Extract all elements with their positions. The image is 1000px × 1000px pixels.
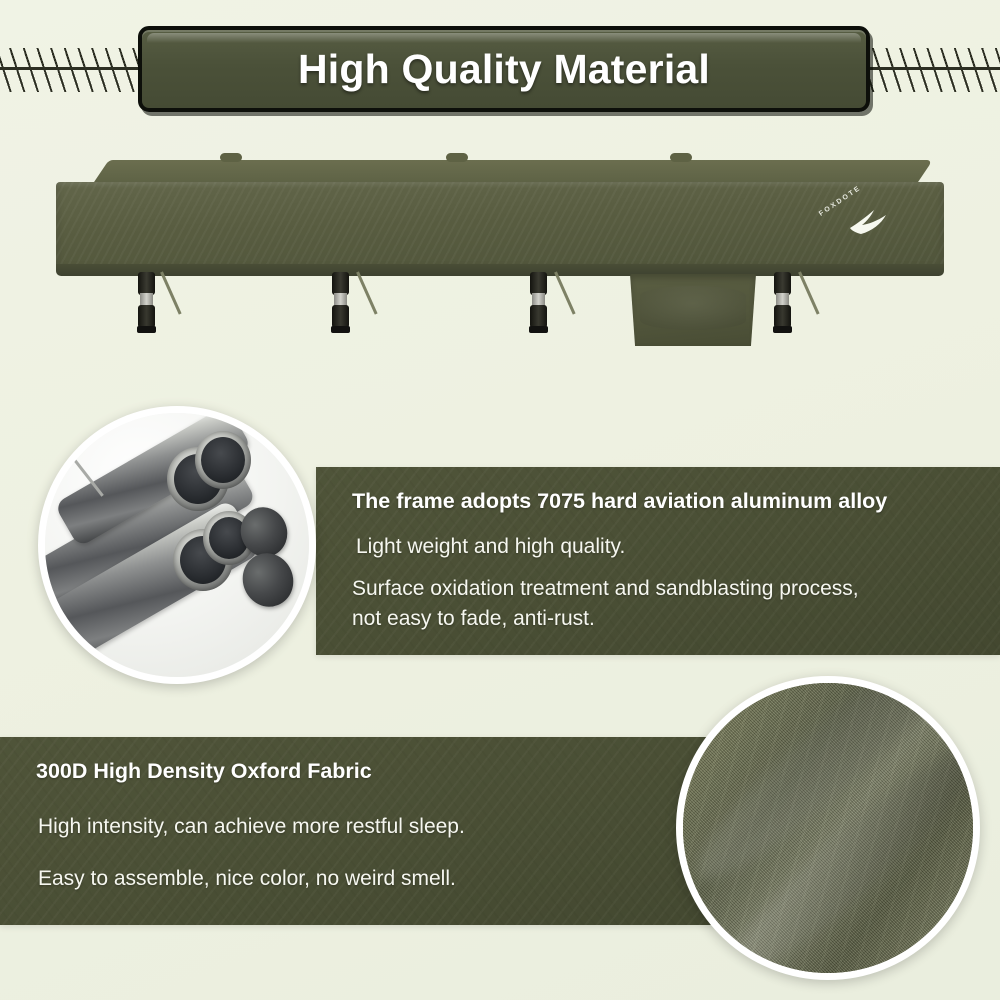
feature-frame-line-3: not easy to fade, anti-rust. xyxy=(352,607,595,631)
cot-leg xyxy=(332,272,349,332)
aluminum-tubes-photo xyxy=(38,406,316,684)
cot-leg-brace xyxy=(356,271,377,314)
product-photo-cot: FOXDOTE xyxy=(0,140,1000,390)
cot-leg-foot xyxy=(137,326,156,333)
feature-panel-fabric: 300D High Density Oxford Fabric High int… xyxy=(0,737,742,925)
cot-leg-brace xyxy=(798,271,819,314)
bird-swoosh-icon xyxy=(848,204,890,238)
tube-bore xyxy=(201,437,245,483)
feature-frame-headline: The frame adopts 7075 hard aviation alum… xyxy=(352,489,887,513)
cot-leg-brace xyxy=(554,271,575,314)
cot-rail-bump xyxy=(670,153,692,162)
cot-fabric-deck xyxy=(56,182,944,274)
cot-leg-upper xyxy=(332,272,349,295)
cot-leg-brace xyxy=(160,271,181,314)
cot-leg-lower xyxy=(332,305,349,328)
page-title: High Quality Material xyxy=(298,46,710,93)
banner-sheen xyxy=(147,33,861,43)
feature-frame-line-2: Surface oxidation treatment and sandblas… xyxy=(352,577,859,601)
feature-frame-line-1: Light weight and high quality. xyxy=(356,535,625,559)
feature-fabric-line-2: Easy to assemble, nice color, no weird s… xyxy=(38,867,456,891)
cot-rail-bump xyxy=(446,153,468,162)
feature-panel-frame: The frame adopts 7075 hard aviation alum… xyxy=(316,467,1000,655)
headline-highlight: The frame adopts 7075 hard aviation alum… xyxy=(352,489,887,514)
cot-leg-lower xyxy=(138,305,155,328)
header-section: High Quality Material xyxy=(0,0,1000,130)
feature-frame-headline-wrap: The frame adopts 7075 hard aviation alum… xyxy=(352,489,887,514)
cot-rail-bump xyxy=(220,153,242,162)
title-banner: High Quality Material xyxy=(138,26,870,112)
cot-leg xyxy=(530,272,547,332)
cot-leg xyxy=(138,272,155,332)
cot-leg-upper xyxy=(138,272,155,295)
cot-front-edge xyxy=(56,264,944,276)
feature-fabric-line-1: High intensity, can achieve more restful… xyxy=(38,815,465,839)
oxford-fabric-photo xyxy=(676,676,980,980)
cot-leg-lower xyxy=(530,305,547,328)
cot-leg-foot xyxy=(773,326,792,333)
cot-leg-foot xyxy=(331,326,350,333)
cot-side-pocket xyxy=(630,274,756,346)
infographic-page: High Quality Material xyxy=(0,0,1000,1000)
cot-leg xyxy=(774,272,791,332)
headline-highlight: 300D High Density Oxford Fabric xyxy=(36,759,372,784)
cot-illustration: FOXDOTE xyxy=(56,160,944,340)
feature-fabric-headline: 300D High Density Oxford Fabric xyxy=(36,759,372,783)
brand-logo: FOXDOTE xyxy=(818,198,898,250)
cot-leg-upper xyxy=(774,272,791,295)
cot-leg-foot xyxy=(529,326,548,333)
cot-leg-lower xyxy=(774,305,791,328)
tube-open-end xyxy=(195,431,251,489)
feature-fabric-headline-wrap: 300D High Density Oxford Fabric xyxy=(36,759,372,784)
cot-leg-upper xyxy=(530,272,547,295)
